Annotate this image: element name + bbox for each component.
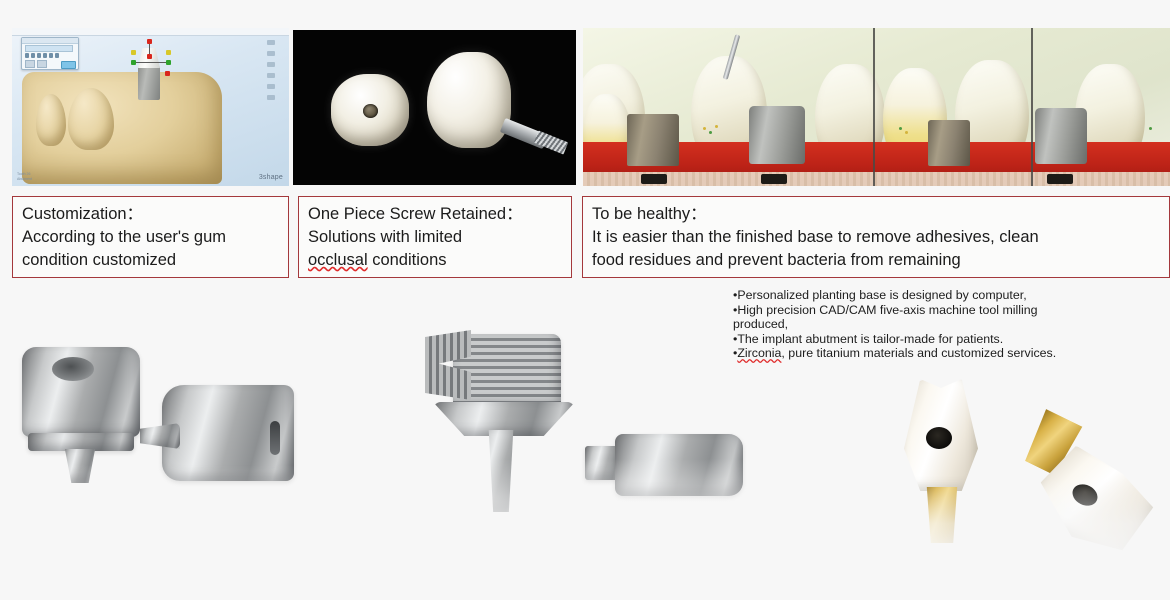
gizmo-handle-green-right[interactable] [166, 60, 171, 65]
panel-divider-2 [1031, 28, 1033, 186]
feature-title-healthy: To be healthy： [592, 203, 1160, 226]
settings-icon[interactable] [267, 95, 275, 100]
gizmo-handle-red-lower[interactable] [165, 71, 170, 76]
abutment-1-head [22, 347, 140, 437]
black-backdrop [293, 30, 576, 185]
abutment-1-collar [28, 433, 134, 451]
plaque-dot-5 [905, 131, 908, 134]
cad-status-text: Tooth 26 Abutment [17, 172, 32, 182]
bullet-item-1: •Personalized planting base is designed … [733, 288, 1078, 303]
gizmo-handle-red-top[interactable] [147, 39, 152, 44]
abutment-right-2 [1035, 108, 1087, 164]
feature-line-healthy-1: It is easier than the finished base to r… [592, 226, 1160, 249]
abutment-2-body [162, 385, 294, 481]
abutment-2-screw-slot [270, 421, 280, 455]
abutment-2-connection [140, 423, 180, 449]
measure-icon[interactable] [267, 84, 275, 89]
bullet-text-4: , pure titanium materials and customized… [781, 346, 1056, 360]
milled-titanium-abutment-pair-photo [425, 330, 755, 560]
view-side-icon[interactable] [267, 62, 275, 67]
dialog-ok-button[interactable] [61, 61, 76, 69]
feature-line-customization-2: condition customized [22, 249, 279, 272]
panel-divider-1 [873, 28, 875, 186]
gizmo-handle-yellow-right[interactable] [166, 50, 171, 55]
3shape-logo: 3shape [259, 174, 283, 181]
plaque-dot-4 [899, 127, 902, 130]
plaque-dot-3 [715, 125, 718, 128]
titanium-abutment-pair-photo [10, 345, 340, 560]
dialog-titlebar [22, 38, 78, 44]
cad-side-toolbar[interactable] [257, 40, 283, 118]
cad-tool-dialog[interactable] [21, 37, 79, 70]
abutment-cylinder [138, 66, 160, 100]
view-front-icon[interactable] [267, 51, 275, 56]
cad-toolbar [12, 28, 289, 36]
crown-side-view [427, 52, 511, 148]
gum-model-3d [22, 72, 222, 184]
cad-status-line-2: Abutment [17, 177, 32, 182]
plaque-dot-6 [1149, 127, 1152, 130]
bullet-item-2: •High precision CAD/CAM five-axis machin… [733, 303, 1078, 332]
feature-line-customization-1: According to the user's gum [22, 226, 279, 249]
option-a-button[interactable] [25, 60, 35, 68]
point-icon[interactable] [49, 53, 53, 58]
zoom-fit-icon[interactable] [267, 73, 275, 78]
abutment-left [627, 114, 679, 166]
implant-fixture-center [761, 174, 787, 184]
gizmo-handle-yellow-left[interactable] [131, 50, 136, 55]
line-icon[interactable] [31, 53, 35, 58]
gizmo-handle-green-left[interactable] [131, 60, 136, 65]
implant-screw-threads [534, 130, 569, 154]
feature-line-healthy-2: food residues and prevent bacteria from … [592, 249, 1160, 272]
zirconia-abutment-1-gold-base [922, 487, 962, 543]
screw-retained-crown-photo [293, 30, 576, 185]
molar-tooth-left [36, 94, 66, 146]
feature-line-screw-retained-2-rest: conditions [368, 251, 447, 269]
feature-title-customization: Customization： [22, 203, 279, 226]
feature-box-healthy: To be healthy： It is easier than the fin… [582, 196, 1170, 278]
molar-tooth-right [68, 88, 114, 150]
wand-icon[interactable] [37, 53, 41, 58]
eraser-icon[interactable] [55, 53, 59, 58]
abutment-4-body [615, 434, 743, 496]
implant-fixture-left [641, 174, 667, 184]
bullet-item-4: •Zirconia, pure titanium materials and c… [733, 346, 1078, 361]
view-top-icon[interactable] [267, 40, 275, 45]
option-b-button[interactable] [37, 60, 47, 68]
implant-fixture-right [1047, 174, 1073, 184]
bullet-text-1: Personalized planting base is designed b… [737, 288, 1026, 302]
feature-line-screw-retained-1: Solutions with limited [308, 226, 562, 249]
abutment-center [749, 106, 805, 164]
bullet-text-2: High precision CAD/CAM five-axis machine… [733, 303, 1038, 332]
crown-occlusal-view [331, 74, 409, 146]
shape-icon[interactable] [43, 53, 47, 58]
gizmo-handle-red-mid[interactable] [147, 54, 152, 59]
spellcheck-word-occlusal: occlusal [308, 251, 368, 269]
cad-design-screenshot: Tooth 26 Abutment 3shape [12, 28, 289, 186]
bullet-text-3: The implant abutment is tailor-made for … [737, 332, 1003, 346]
feature-title-screw-retained: One Piece Screw Retained： [308, 203, 562, 226]
abutment-1-stem [62, 449, 98, 483]
plaque-dot-1 [703, 127, 706, 130]
abutment-3-neck [473, 430, 529, 512]
implant-abutment-illustration [583, 28, 1170, 186]
zirconia-abutment-1-screw-hole [926, 427, 952, 449]
plaque-dot-2 [709, 131, 712, 134]
zirconia-gold-abutment-pair-photo [860, 375, 1160, 560]
bullet-list: •Personalized planting base is designed … [733, 288, 1078, 361]
brush-icon[interactable] [25, 53, 29, 58]
abutment-right-1 [928, 120, 970, 166]
feature-box-customization: Customization： According to the user's g… [12, 196, 289, 278]
dialog-text-field[interactable] [25, 45, 73, 52]
gizmo-axis-horizontal [134, 62, 166, 63]
dialog-icon-row[interactable] [25, 52, 73, 58]
feature-box-screw-retained: One Piece Screw Retained： Solutions with… [298, 196, 572, 278]
feature-line-screw-retained-2: occlusal conditions [308, 249, 562, 272]
page-root: Tooth 26 Abutment 3shape [0, 0, 1170, 600]
bullet-item-3: •The implant abutment is tailor-made for… [733, 332, 1078, 347]
